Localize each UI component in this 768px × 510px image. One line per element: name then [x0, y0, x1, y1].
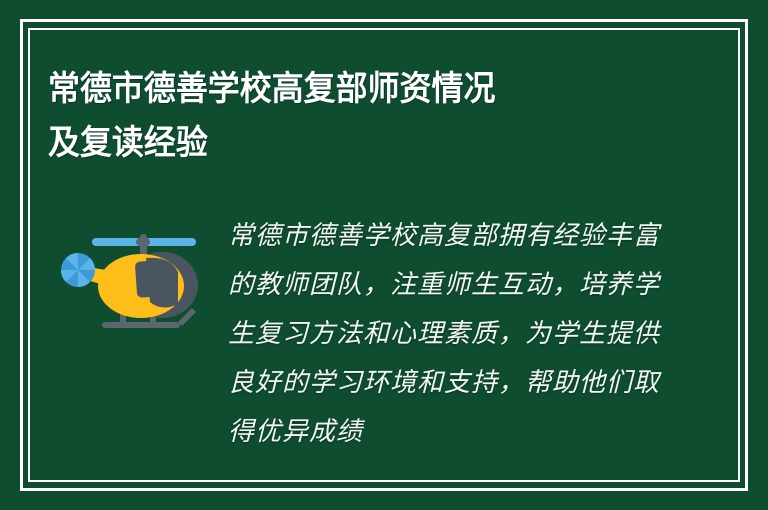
title-line-1: 常德市德善学校高复部师资情况 — [48, 62, 650, 116]
page-title: 常德市德善学校高复部师资情况 及复读经验 — [48, 62, 688, 170]
poster-canvas: 常德市德善学校高复部师资情况 及复读经验 — [0, 0, 768, 510]
title-line-2: 及复读经验 — [48, 116, 650, 170]
helicopter-icon — [58, 222, 208, 340]
helicopter-illustration — [58, 222, 208, 340]
body-text: 常德市德善学校高复部拥有经验丰富的教师团队，注重师生互动，培养学生复习方法和心理… — [228, 212, 660, 457]
body-paragraph: 常德市德善学校高复部拥有经验丰富的教师团队，注重师生互动，培养学生复习方法和心理… — [228, 212, 660, 457]
